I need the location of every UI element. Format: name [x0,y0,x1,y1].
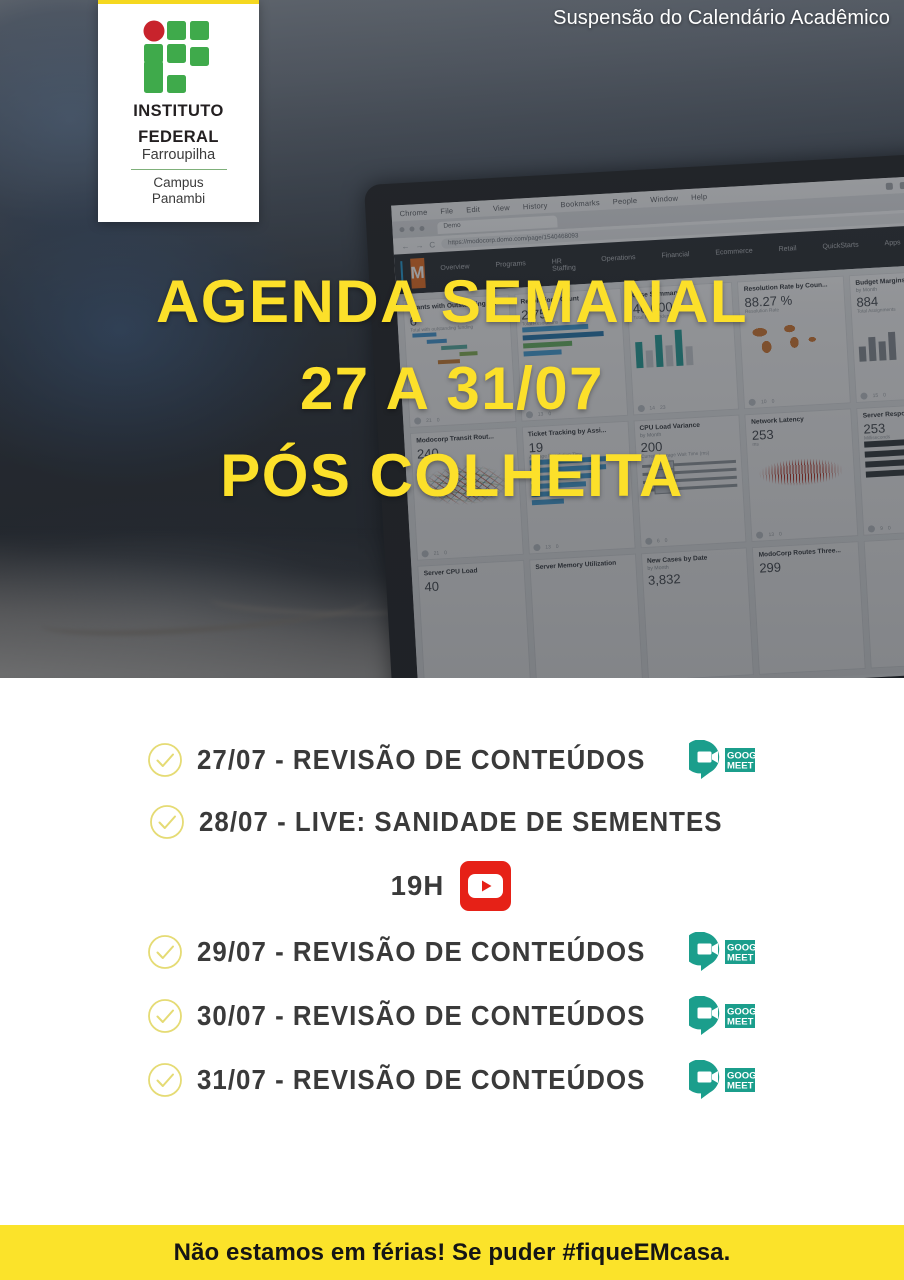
agenda-row[interactable]: 30/07 - REVISÃO DE CONTEÚDOS GOOGLE MEET [0,996,904,1036]
check-circle-icon [147,934,183,970]
agenda-row-label: 28/07 - LIVE: SANIDADE DE SEMENTES [199,806,723,838]
agenda-row-label: 31/07 - REVISÃO DE CONTEÚDOS [197,1064,645,1096]
youtube-icon[interactable] [458,858,513,914]
google-meet-icon[interactable]: GOOGLE MEET [689,1060,757,1100]
hero-banner: Chrome File Edit View History Bookmarks … [0,0,904,678]
logo-institute-line3: Farroupilha [142,147,215,163]
title-line-2: 27 A 31/07 [0,355,904,422]
logo-campus-word: Campus [153,175,203,191]
agenda-row[interactable]: 31/07 - REVISÃO DE CONTEÚDOS GOOGLE MEET [0,1060,904,1100]
agenda-row[interactable]: 27/07 - REVISÃO DE CONTEÚDOS GOOGLE MEET [0,740,904,780]
svg-text:MEET: MEET [727,761,754,772]
title-line-1: AGENDA SEMANAL [0,268,904,335]
logo-institute-line1: INSTITUTO [133,103,223,120]
agenda-list: 27/07 - REVISÃO DE CONTEÚDOS GOOGLE MEET… [0,678,904,1100]
agenda-row[interactable]: 29/07 - REVISÃO DE CONTEÚDOS GOOGLE MEET [0,932,904,972]
agenda-row-label: 29/07 - REVISÃO DE CONTEÚDOS [197,936,645,968]
if-farroupilha-mark-icon [143,20,215,94]
footer-banner: Não estamos em férias! Se puder #fiqueEM… [0,1225,904,1280]
check-circle-icon [147,998,183,1034]
check-circle-icon [149,804,185,840]
google-meet-icon[interactable]: GOOGLE MEET [689,740,757,780]
svg-text:MEET: MEET [727,1081,754,1092]
title-line-3: PÓS COLHEITA [0,442,904,509]
agenda-row-hour: 19H [391,870,445,902]
svg-text:MEET: MEET [727,1017,754,1028]
footer-message: Não estamos em férias! Se puder #fiqueEM… [174,1239,731,1267]
google-meet-icon[interactable]: GOOGLE MEET [689,932,757,972]
google-meet-icon[interactable]: GOOGLE MEET [689,996,757,1036]
logo-campus-name: Panambi [152,191,205,207]
logo-divider [131,169,227,170]
agenda-row-label: 27/07 - REVISÃO DE CONTEÚDOS [197,744,645,776]
page-title: AGENDA SEMANAL 27 A 31/07 PÓS COLHEITA [0,268,904,510]
agenda-row-second-line: 19H [0,858,904,914]
check-circle-icon [147,1062,183,1098]
institution-logo-card: INSTITUTO FEDERAL Farroupilha Campus Pan… [98,0,259,222]
svg-text:MEET: MEET [727,953,754,964]
hero-note: Suspensão do Calendário Acadêmico [553,7,890,30]
check-circle-icon [147,742,183,778]
agenda-row[interactable]: 28/07 - LIVE: SANIDADE DE SEMENTES 19H [0,804,904,914]
agenda-row-label: 30/07 - REVISÃO DE CONTEÚDOS [197,1000,645,1032]
logo-institute-line2: FEDERAL [138,129,219,146]
